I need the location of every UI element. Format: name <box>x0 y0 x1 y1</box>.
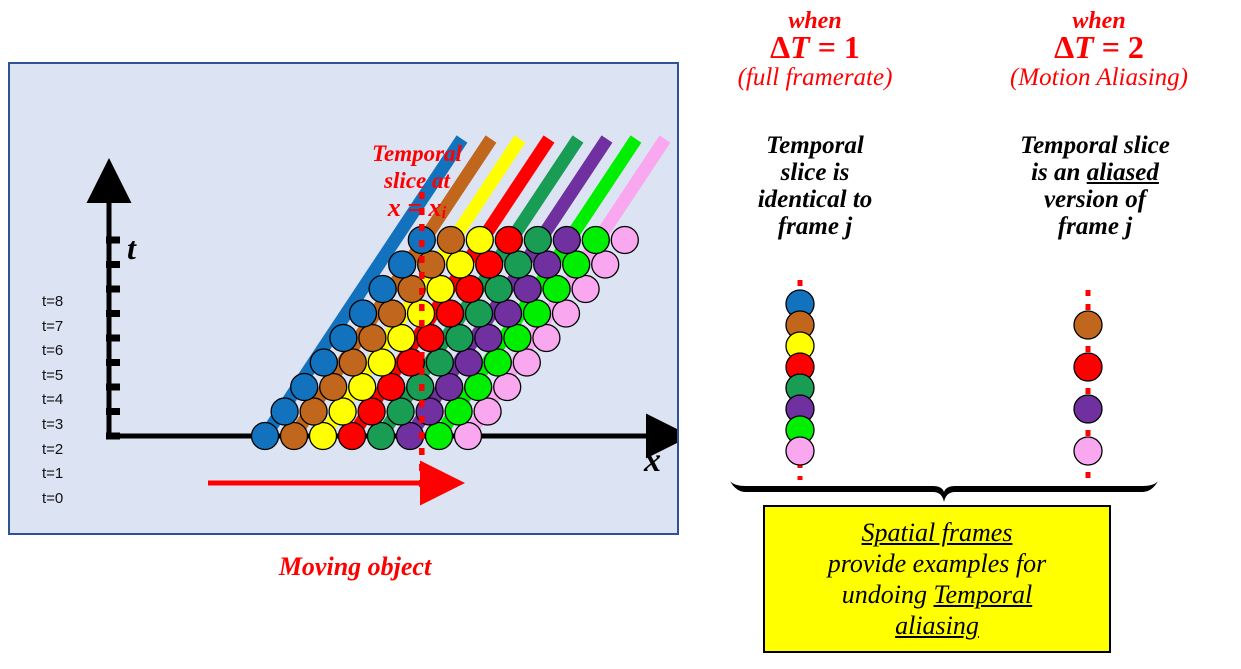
dt2-symbol: T <box>1074 29 1094 65</box>
dt2-paren-label: (Motion Aliasing) <box>965 64 1233 92</box>
dt2-equation: ΔT = 2 <box>965 29 1233 66</box>
callout-box: Spatial frames provide examples for undo… <box>763 505 1111 653</box>
t-tick-label: t=1 <box>42 464 90 489</box>
callout-line3b: Temporal <box>933 580 1032 609</box>
dt1-desc-line3: identical to <box>700 186 930 213</box>
slice-label-equation: x = xi <box>302 194 532 226</box>
t-axis-label: t <box>127 230 136 267</box>
spacetime-canvas <box>10 64 677 533</box>
dt2-equals: = <box>1094 29 1128 65</box>
dt2-desc-line2: is an aliased <box>950 159 1240 186</box>
dt1-desc-line2: slice is <box>700 159 930 186</box>
t-tick-label: t=4 <box>42 390 90 415</box>
dt1-delta: Δ <box>770 29 790 65</box>
x-axis-label: x <box>644 442 661 480</box>
slice-equation-text: x = x <box>388 193 442 222</box>
callout-line3: undoing Temporal <box>828 579 1047 610</box>
figure-root: t=8 t=7 t=6 t=5 t=4 t=3 t=2 t=1 t=0 t x … <box>0 0 1241 669</box>
slice-equation-subscript: i <box>442 203 447 222</box>
column-dt1-description: Temporal slice is identical to frame j <box>700 132 930 240</box>
slice-columns-canvas <box>690 280 1241 510</box>
dt1-value: 1 <box>844 29 860 65</box>
dt1-paren-label: (full framerate) <box>700 64 930 92</box>
dt2-desc-line4: frame j <box>950 213 1240 240</box>
column-dt1-header: when ΔT = 1 (full framerate) <box>700 8 930 92</box>
t-tick-label: t=3 <box>42 415 90 440</box>
dt1-desc-line4: frame j <box>700 213 930 240</box>
dt1-dot <box>786 437 814 465</box>
t-tick-label: t=0 <box>42 489 90 514</box>
t-tick-label: t=7 <box>42 317 90 342</box>
dt1-desc-line1: Temporal <box>700 132 930 159</box>
spacetime-diagram-panel: t=8 t=7 t=6 t=5 t=4 t=3 t=2 t=1 t=0 t x … <box>8 62 679 535</box>
t-axis-tick-labels: t=8 t=7 t=6 t=5 t=4 t=3 t=2 t=1 t=0 <box>42 292 90 513</box>
t-tick-label: t=2 <box>42 440 90 465</box>
t-tick-label: t=8 <box>42 292 90 317</box>
temporal-slice-label: Temporal slice at x = xi <box>302 140 532 226</box>
dt2-desc-line1: Temporal slice <box>950 132 1240 159</box>
dt1-symbol: T <box>790 29 810 65</box>
t-tick-label: t=5 <box>42 366 90 391</box>
column-dt2-description: Temporal slice is an aliased version of … <box>950 132 1240 240</box>
dt2-dot <box>1074 395 1102 423</box>
callout-line2: provide examples for <box>828 548 1047 579</box>
slice-label-line1: Temporal <box>302 140 532 167</box>
dt1-dot-column <box>786 290 814 465</box>
dt2-delta: Δ <box>1054 29 1074 65</box>
column-dt2-header: when ΔT = 2 (Motion Aliasing) <box>965 8 1233 92</box>
dt2-dot <box>1074 311 1102 339</box>
moving-object-label: Moving object <box>200 552 510 582</box>
slice-label-line2: slice at <box>302 167 532 194</box>
callout-line3a: undoing <box>842 580 934 609</box>
dt2-desc-aliased: aliased <box>1087 159 1159 186</box>
callout-line1: Spatial frames <box>828 517 1047 548</box>
grouping-brace <box>730 481 1158 502</box>
dt2-dot <box>1074 353 1102 381</box>
dt2-desc-line3: version of <box>950 186 1240 213</box>
dt2-desc-line2a: is an <box>1031 159 1087 186</box>
callout-line4: aliasing <box>828 610 1047 641</box>
dt2-value: 2 <box>1128 29 1144 65</box>
t-tick-label: t=6 <box>42 341 90 366</box>
dt1-equals: = <box>810 29 844 65</box>
dt2-dot <box>1074 437 1102 465</box>
dt1-equation: ΔT = 1 <box>700 29 930 66</box>
callout-text: Spatial frames provide examples for undo… <box>822 517 1053 641</box>
